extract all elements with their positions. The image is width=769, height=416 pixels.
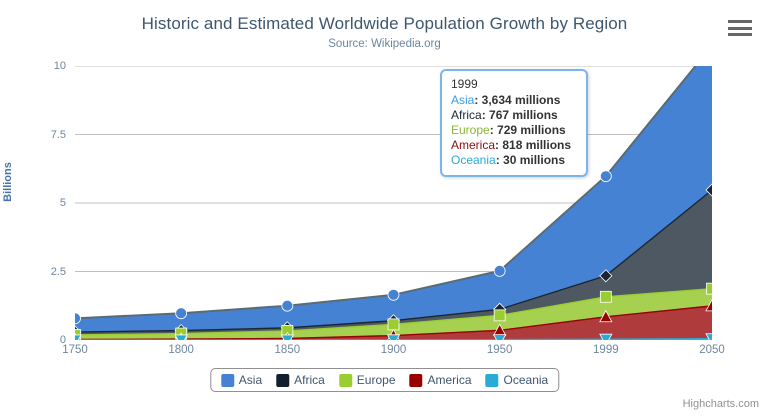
tooltip-series-name: Asia — [451, 93, 474, 107]
tooltip-series-value: : 767 millions — [482, 108, 558, 122]
legend-swatch-icon — [221, 374, 234, 387]
y-axis-labels: 02.557.510 — [28, 66, 66, 340]
tooltip-row: America: 818 millions — [451, 138, 577, 153]
marker-europe[interactable] — [600, 291, 611, 302]
chart-svg — [75, 66, 712, 340]
tooltip-series-name: Oceania — [451, 153, 496, 167]
tooltip-series-value: : 729 millions — [490, 123, 566, 137]
marker-asia[interactable] — [388, 289, 399, 300]
tooltip-series-name: Africa — [451, 108, 482, 122]
tooltip-series-name: America — [451, 138, 495, 152]
legend-item-asia[interactable]: Asia — [221, 373, 262, 387]
tooltip-series-value: : 30 millions — [496, 153, 565, 167]
marker-asia[interactable] — [494, 265, 505, 276]
marker-asia[interactable] — [176, 308, 187, 319]
y-tick-label: 10 — [54, 60, 66, 72]
highcharts-container: Historic and Estimated Worldwide Populat… — [0, 0, 769, 416]
legend-swatch-icon — [276, 374, 289, 387]
x-tick-label: 1750 — [62, 344, 88, 356]
tooltip-series-value: : 3,634 millions — [474, 93, 560, 107]
legend-swatch-icon — [339, 374, 352, 387]
legend-item-europe[interactable]: Europe — [339, 373, 396, 387]
y-tick-label: 7.5 — [51, 129, 66, 141]
x-tick-label: 1999 — [593, 344, 619, 356]
legend-swatch-icon — [410, 374, 423, 387]
marker-europe[interactable] — [494, 310, 505, 321]
tooltip-row: Oceania: 30 millions — [451, 153, 577, 168]
legend-label: America — [428, 373, 472, 387]
chart-subtitle: Source: Wikipedia.org — [0, 38, 769, 50]
marker-asia[interactable] — [600, 171, 611, 182]
tooltip-row: Europe: 729 millions — [451, 123, 577, 138]
legend-item-africa[interactable]: Africa — [276, 373, 325, 387]
tooltip-header: 1999 — [451, 77, 577, 91]
x-tick-label: 1850 — [275, 344, 301, 356]
marker-europe[interactable] — [388, 319, 399, 330]
legend-item-oceania[interactable]: Oceania — [486, 373, 549, 387]
hamburger-bar-2 — [728, 27, 752, 30]
credits-link[interactable]: Highcharts.com — [683, 398, 759, 410]
y-axis-title: Billions — [2, 162, 14, 202]
tooltip-series-value: : 818 millions — [495, 138, 571, 152]
legend-swatch-icon — [486, 374, 499, 387]
hamburger-bar-1 — [728, 20, 752, 23]
x-tick-label: 1950 — [487, 344, 513, 356]
legend-item-america[interactable]: America — [410, 373, 472, 387]
legend-label: Africa — [294, 373, 325, 387]
y-tick-label: 2.5 — [51, 266, 66, 278]
hamburger-bar-3 — [728, 33, 752, 36]
tooltip-series-name: Europe — [451, 123, 490, 137]
marker-asia[interactable] — [282, 300, 293, 311]
x-tick-label: 2050 — [699, 344, 725, 356]
x-axis-labels: 1750180018501900195019992050 — [75, 344, 712, 362]
chart-title: Historic and Estimated Worldwide Populat… — [0, 14, 769, 34]
tooltip-row: Asia: 3,634 millions — [451, 93, 577, 108]
legend-label: Oceania — [504, 373, 549, 387]
legend-label: Europe — [357, 373, 396, 387]
marker-europe[interactable] — [707, 283, 713, 294]
tooltip: 1999 Asia: 3,634 millionsAfrica: 767 mil… — [440, 69, 588, 177]
plot-area — [75, 66, 712, 340]
legend-label: Asia — [239, 373, 262, 387]
tooltip-row: Africa: 767 millions — [451, 108, 577, 123]
chart-legend[interactable]: AsiaAfricaEuropeAmericaOceania — [210, 368, 559, 392]
y-tick-label: 5 — [60, 197, 66, 209]
tooltip-rows: Asia: 3,634 millionsAfrica: 767 millions… — [451, 93, 577, 168]
x-tick-label: 1800 — [168, 344, 194, 356]
hamburger-menu-icon[interactable] — [728, 18, 752, 38]
x-tick-label: 1900 — [381, 344, 407, 356]
